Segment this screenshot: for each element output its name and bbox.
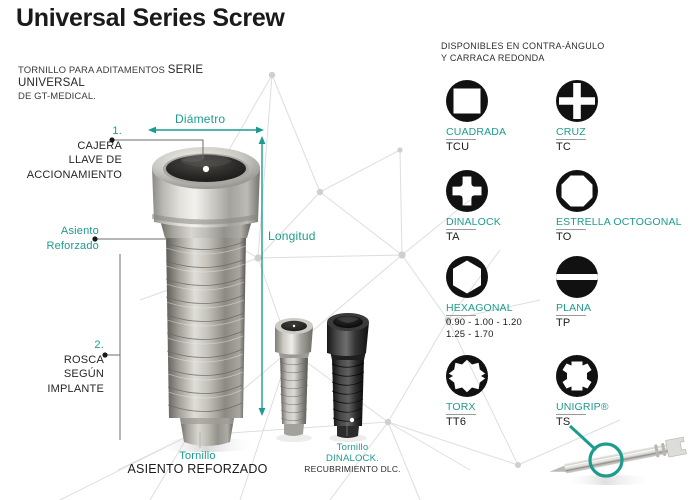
small-screw-dlc-illustration [322,308,374,444]
drive-2-code: TA [446,231,561,243]
caption-dinalock-dlc: Tornillo DINALOCK. RECUBRIMIENTO DLC. [290,442,415,475]
drive-1-code: TC [556,141,671,153]
intro-line-2: DE GT-MEDICAL. [18,91,96,102]
drive-1-rule [556,139,586,140]
drive-option-hexagonal[interactable]: HEXAGONAL 0.90 - 1.00 - 1.20 1.25 - 1.70 [446,256,561,340]
poster-root: Universal Series Screw TORNILLO PARA ADI… [0,0,700,500]
drive-2-rule [446,229,476,230]
drive-0-name: CUADRADA [446,126,561,138]
page-title: Universal Series Screw [16,4,285,33]
drive-option-cuadrada[interactable]: CUADRADA TCU [446,80,561,153]
caption-left-line-2: ASIENTO REFORZADO [110,463,285,476]
caption-asiento-reforzado: Tornillo ASIENTO REFORZADO [110,450,285,476]
drive-5-rule [556,315,586,316]
callout-2-line-2: Reforzado [46,240,99,252]
callout-3-number: 2. [4,338,104,353]
drive-2-name: DINALOCK [446,216,561,228]
drive-4-code-2: 1.25 - 1.70 [446,329,561,341]
drive-6-rule [446,414,476,415]
torx-drive-icon [446,355,488,397]
unigrip-driver-illustration [540,418,700,498]
drive-3-code: TO [556,231,671,243]
caption-right-line-2: DINALOCK. [290,453,415,464]
drive-0-rule [446,139,476,140]
drive-4-name: HEXAGONAL [446,302,561,314]
callout-3-line-3: IMPLANTE [47,383,104,395]
unigrip-drive-icon [556,355,598,397]
callout-asiento-reforzado: Asiento Reforzado [4,224,99,253]
cross-drive-icon [556,80,598,122]
small-screw-steel-illustration [270,312,318,444]
octagon-drive-icon [556,170,598,212]
callout-cajera: 1. CAJERA LLAVE DE ACCIONAMIENTO [4,124,122,182]
panel-heading-line-1: DISPONIBLES EN CONTRA-ÁNGULO [441,41,605,51]
caption-right-line-1: Tornillo [290,442,415,453]
drive-6-name: TORX [446,401,561,413]
caption-right-line-3: RECUBRIMIENTO DLC. [290,464,415,475]
panel-heading: DISPONIBLES EN CONTRA-ÁNGULO Y CARRACA R… [441,40,671,64]
drive-5-code: TP [556,317,671,329]
drive-1-name: CRUZ [556,126,671,138]
callout-3-line-1: ROSCA [64,354,104,366]
intro-caption: TORNILLO PARA ADITAMENTOS SERIE UNIVERSA… [18,64,268,103]
drive-3-name: ESTRELLA OCTOGONAL [556,216,671,228]
callout-1-line-1: CAJERA [77,140,122,152]
drive-option-cruz[interactable]: CRUZ TC [556,80,671,153]
drive-option-plana[interactable]: PLANA TP [556,256,671,329]
drive-5-name: PLANA [556,302,671,314]
flat-drive-icon [556,256,598,298]
drive-3-rule [556,229,586,230]
main-screw-illustration [140,130,272,455]
drive-option-estrella-octogonal[interactable]: ESTRELLA OCTOGONAL TO [556,170,671,243]
drive-0-code: TCU [446,141,561,153]
callout-1-line-2: LLAVE DE [69,154,122,166]
intro-line-1: TORNILLO PARA ADITAMENTOS [18,65,165,76]
drive-4-rule [446,315,476,316]
callout-rosca: 2. ROSCA SEGÚN IMPLANTE [4,338,104,396]
drive-option-dinalock[interactable]: DINALOCK TA [446,170,561,243]
hexagon-drive-icon [446,256,488,298]
panel-heading-line-2: Y CARRACA REDONDA [441,53,545,63]
drive-7-rule [556,414,586,415]
drive-7-name: UNIGRIP® [556,401,671,413]
length-label: Longitud [268,229,316,243]
diameter-arrow [148,124,264,136]
callout-2-line-1: Asiento [61,225,99,237]
dinalock-drive-icon [446,170,488,212]
length-arrow [256,136,268,416]
callout-1-line-3: ACCIONAMIENTO [27,169,122,181]
callout-1-number: 1. [4,124,122,139]
square-drive-icon [446,80,488,122]
callout-3-line-2: SEGÚN [64,368,104,380]
drive-4-code: 0.90 - 1.00 - 1.20 [446,317,561,329]
highlight-leader [570,426,596,450]
